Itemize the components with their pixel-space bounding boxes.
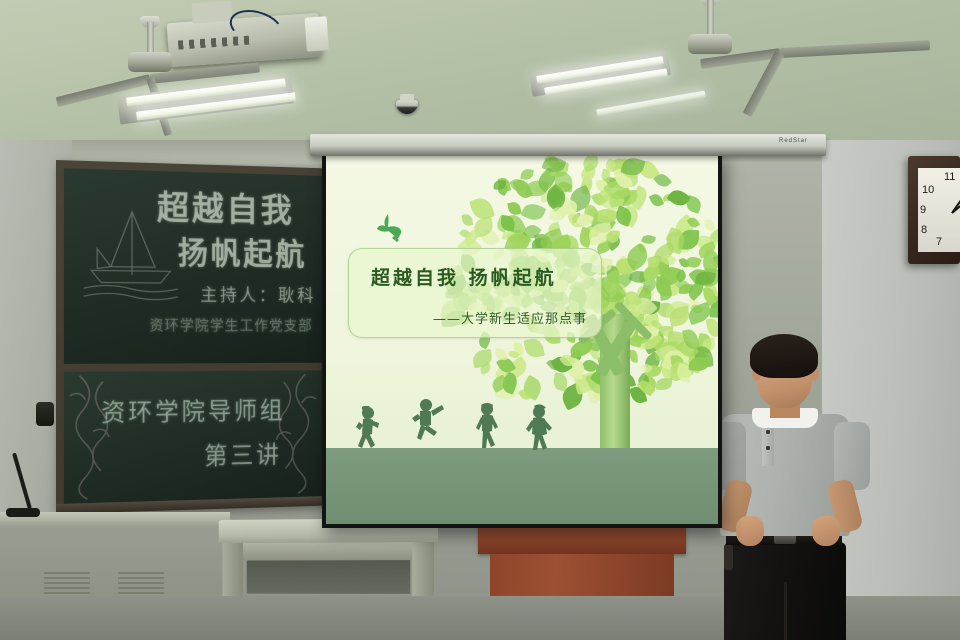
blackboard-bottom-line2: 第三讲 xyxy=(204,436,282,472)
floral-chalk-decoration-right xyxy=(260,370,324,496)
tree-leaf xyxy=(705,219,716,231)
tree-leaf xyxy=(688,357,709,372)
tree-leaf xyxy=(512,177,533,201)
projector-lens-icon xyxy=(305,16,329,51)
floral-chalk-decoration-left xyxy=(64,372,122,502)
tree-leaf xyxy=(655,377,671,390)
child-silhouette xyxy=(522,404,556,452)
child-silhouette xyxy=(354,406,384,452)
presenter-hand-right xyxy=(812,516,840,546)
presenter-hand-left xyxy=(736,516,764,546)
clock-face: 11 10 9 8 7 xyxy=(918,168,960,252)
blackboard-upper-panel: 超越自我 扬帆起航 主持人：耿科 资环学院学生工作党支部 xyxy=(64,168,323,364)
child-silhouette xyxy=(472,402,502,452)
podium-top-surface xyxy=(478,524,686,554)
tree-leaf xyxy=(507,201,521,216)
tree-leaf xyxy=(524,336,545,358)
slide-ground-band xyxy=(326,448,718,524)
blackboard: 超越自我 扬帆起航 主持人：耿科 资环学院学生工作党支部 xyxy=(56,160,330,512)
child-silhouette-jumping xyxy=(410,398,448,442)
clock-number: 10 xyxy=(922,184,934,196)
flying-fairy-icon xyxy=(374,212,408,242)
gooseneck-microphone-base xyxy=(6,508,40,517)
blackboard-top-line2: 扬帆起航 xyxy=(178,228,307,274)
tree-leaf xyxy=(495,348,506,361)
clock-number: 7 xyxy=(936,236,942,248)
tree-leaf xyxy=(554,171,573,191)
tree-leaf xyxy=(520,201,546,224)
presenter-speaker xyxy=(700,330,880,640)
tree-leaf xyxy=(629,350,638,363)
slide-title-box: 超越自我 扬帆起航 ——大学新生适应那点事 xyxy=(348,248,602,338)
classroom-presentation-photo: 11 10 9 8 7 超越自我 扬帆起航 主持人： xyxy=(0,0,960,640)
fan-motor xyxy=(128,52,172,72)
table-under-shadow xyxy=(247,560,411,594)
fan-rod xyxy=(147,22,154,56)
blackboard-host-line: 主持人：耿科 xyxy=(200,281,316,307)
shirt-button xyxy=(766,430,770,434)
wall-clock: 11 10 9 8 7 xyxy=(908,156,960,264)
blackboard-bottom-line1: 资环学院导师组 xyxy=(101,392,285,430)
projection-screen: 超越自我 扬帆起航 ——大学新生适应那点事 xyxy=(322,152,722,528)
clock-number: 9 xyxy=(920,204,926,216)
tree-leaf xyxy=(461,213,473,227)
slide-title: 超越自我 扬帆起航 xyxy=(371,263,557,290)
projector-mount xyxy=(191,1,232,24)
clock-number: 8 xyxy=(921,224,927,236)
wall-speaker xyxy=(36,402,54,426)
presenter-hair xyxy=(750,334,818,378)
presentation-slide: 超越自我 扬帆起航 ——大学新生适应那点事 xyxy=(326,156,718,524)
tree-leaf xyxy=(648,192,663,208)
fan-rod xyxy=(707,0,714,34)
clock-number: 11 xyxy=(944,171,955,183)
projection-screen-case: RedStar xyxy=(310,134,826,156)
blackboard-lower-panel: 资环学院导师组 第三讲 xyxy=(64,370,323,503)
screen-brand-label: RedStar xyxy=(779,138,808,144)
slide-subtitle: ——大学新生适应那点事 xyxy=(433,308,587,327)
tree-leaf xyxy=(549,206,568,223)
blackboard-org-line: 资环学院学生工作党支部 xyxy=(149,314,312,335)
fan-motor xyxy=(688,34,732,54)
shirt-placket xyxy=(762,422,774,466)
trouser-seam xyxy=(784,582,787,640)
blackboard-top-line1: 超越自我 xyxy=(157,181,295,232)
keychain xyxy=(724,544,733,570)
table-apron xyxy=(228,542,428,561)
shirt-button xyxy=(766,446,770,450)
